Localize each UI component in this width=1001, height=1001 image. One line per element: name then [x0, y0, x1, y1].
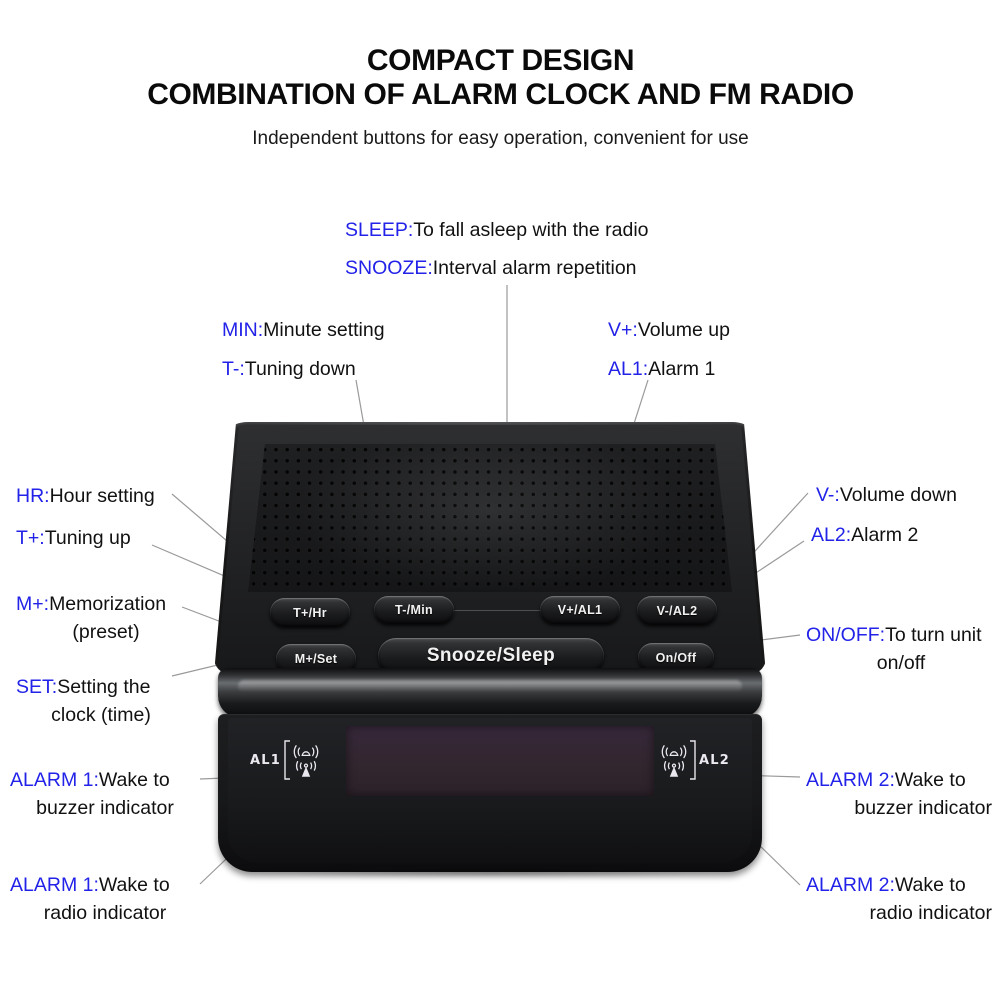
indicator-cluster-al2: AL2: [661, 740, 730, 780]
callout-sleep-key: SLEEP:: [345, 219, 413, 241]
callout-sleep-desc: To fall asleep with the radio: [413, 219, 648, 241]
callout-sleep: SLEEP:To fall asleep with the radio: [345, 216, 649, 244]
callout-tminus: T-:Tuning down: [222, 355, 356, 383]
callout-vplus-key: V+:: [608, 319, 638, 341]
button-v-minus-al2[interactable]: V-/AL2: [637, 596, 717, 625]
callout-alarm2-buzzer: ALARM 2:Wake to buzzer indicator: [806, 766, 992, 822]
callout-tminus-key: T-:: [222, 358, 245, 380]
speaker-grille-shading: [248, 444, 732, 592]
callout-alarm2-buzzer-desc2: buzzer indicator: [806, 794, 992, 822]
callout-mplus: M+:Memorization (preset): [16, 590, 196, 646]
callout-snooze-desc: Interval alarm repetition: [433, 257, 637, 279]
button-t-plus-hr[interactable]: T+/Hr: [270, 598, 350, 627]
callout-tminus-desc: Tuning down: [245, 358, 356, 380]
callout-al2-desc: Alarm 2: [851, 524, 918, 546]
callout-alarm1-radio: ALARM 1:Wake to radio indicator: [10, 871, 200, 927]
callout-al1: AL1:Alarm 1: [608, 355, 715, 383]
callout-alarm1-buzzer-key: ALARM 1:: [10, 769, 99, 791]
callout-snooze: SNOOZE:Interval alarm repetition: [345, 254, 637, 282]
callout-hr-key: HR:: [16, 485, 50, 507]
bracket-left-icon: [283, 740, 291, 780]
callout-min-key: MIN:: [222, 319, 263, 341]
button-t-minus-min[interactable]: T-/Min: [374, 596, 454, 624]
indicator-al2-label: AL2: [699, 753, 730, 768]
callout-vminus: V-:Volume down: [816, 481, 957, 509]
indicator-al1-icons: [293, 742, 319, 779]
callout-mplus-key: M+:: [16, 593, 49, 615]
device-front-bevel: [218, 668, 762, 718]
callout-onoff-key: ON/OFF:: [806, 624, 885, 646]
callout-alarm2-radio-desc2: radio indicator: [806, 899, 992, 927]
subheadline: Independent buttons for easy operation, …: [0, 128, 1001, 150]
radio-tower-icon: [661, 761, 687, 779]
headline-secondary: COMBINATION OF ALARM CLOCK AND FM RADIO: [0, 78, 1001, 112]
callout-vplus: V+:Volume up: [608, 316, 730, 344]
callout-vminus-key: V-:: [816, 484, 840, 506]
callout-tplus: T+:Tuning up: [16, 524, 131, 552]
callout-al2: AL2:Alarm 2: [811, 521, 918, 549]
device-ground-shadow: [248, 868, 732, 877]
indicator-al1-label: AL1: [250, 753, 281, 768]
callout-set-desc: Setting the: [57, 676, 150, 698]
callout-set-desc2: clock (time): [16, 701, 186, 729]
bell-waves-icon: [293, 742, 319, 760]
callout-alarm2-buzzer-key: ALARM 2:: [806, 769, 895, 791]
lcd-display: [346, 726, 654, 796]
callout-tplus-key: T+:: [16, 527, 45, 549]
callout-al1-desc: Alarm 1: [648, 358, 715, 380]
callout-onoff: ON/OFF:To turn unit on/off: [806, 621, 996, 677]
callout-hr-desc: Hour setting: [50, 485, 155, 507]
callout-alarm2-buzzer-desc: Wake to: [895, 769, 966, 791]
bracket-right-icon: [689, 740, 697, 780]
device-front-face-inner: AL1: [228, 718, 752, 862]
callout-alarm1-radio-desc: Wake to: [99, 874, 170, 896]
indicator-cluster-al1: AL1: [250, 740, 319, 780]
callout-vplus-desc: Volume up: [638, 319, 730, 341]
callout-mplus-desc: Memorization: [49, 593, 166, 615]
callout-alarm2-radio: ALARM 2:Wake to radio indicator: [806, 871, 992, 927]
device-front-face: AL1: [218, 714, 762, 872]
callout-onoff-desc: To turn unit: [885, 624, 981, 646]
callout-mplus-desc2: (preset): [16, 618, 196, 646]
callout-alarm1-radio-key: ALARM 1:: [10, 874, 99, 896]
callout-snooze-key: SNOOZE:: [345, 257, 433, 279]
callout-vminus-desc: Volume down: [840, 484, 957, 506]
callout-hr: HR:Hour setting: [16, 482, 155, 510]
bell-waves-icon: [661, 742, 687, 760]
indicator-al2-icons: [661, 742, 687, 779]
callout-min: MIN:Minute setting: [222, 316, 385, 344]
callout-alarm1-buzzer-desc: Wake to: [99, 769, 170, 791]
device-bevel-highlight: [238, 680, 742, 692]
infographic-canvas: COMPACT DESIGN COMBINATION OF ALARM CLOC…: [0, 0, 1001, 1001]
callout-tplus-desc: Tuning up: [45, 527, 131, 549]
callout-alarm2-radio-desc: Wake to: [895, 874, 966, 896]
button-v-plus-al1[interactable]: V+/AL1: [540, 596, 620, 624]
alarm-clock-radio-device: T+/Hr T-/Min V+/AL1 V-/AL2 M+/Set Snooze…: [214, 422, 766, 874]
callout-alarm1-buzzer-desc2: buzzer indicator: [10, 794, 200, 822]
headline-primary: COMPACT DESIGN: [0, 44, 1001, 78]
callout-alarm1-buzzer: ALARM 1:Wake to buzzer indicator: [10, 766, 200, 822]
callout-al1-key: AL1:: [608, 358, 648, 380]
callout-onoff-desc2: on/off: [806, 649, 996, 677]
button-row-seam-line: [452, 610, 542, 611]
callout-set: SET:Setting the clock (time): [16, 673, 186, 729]
callout-alarm1-radio-desc2: radio indicator: [10, 899, 200, 927]
radio-tower-icon: [293, 761, 319, 779]
callout-set-key: SET:: [16, 676, 57, 698]
callout-al2-key: AL2:: [811, 524, 851, 546]
callout-alarm2-radio-key: ALARM 2:: [806, 874, 895, 896]
callout-min-desc: Minute setting: [263, 319, 384, 341]
